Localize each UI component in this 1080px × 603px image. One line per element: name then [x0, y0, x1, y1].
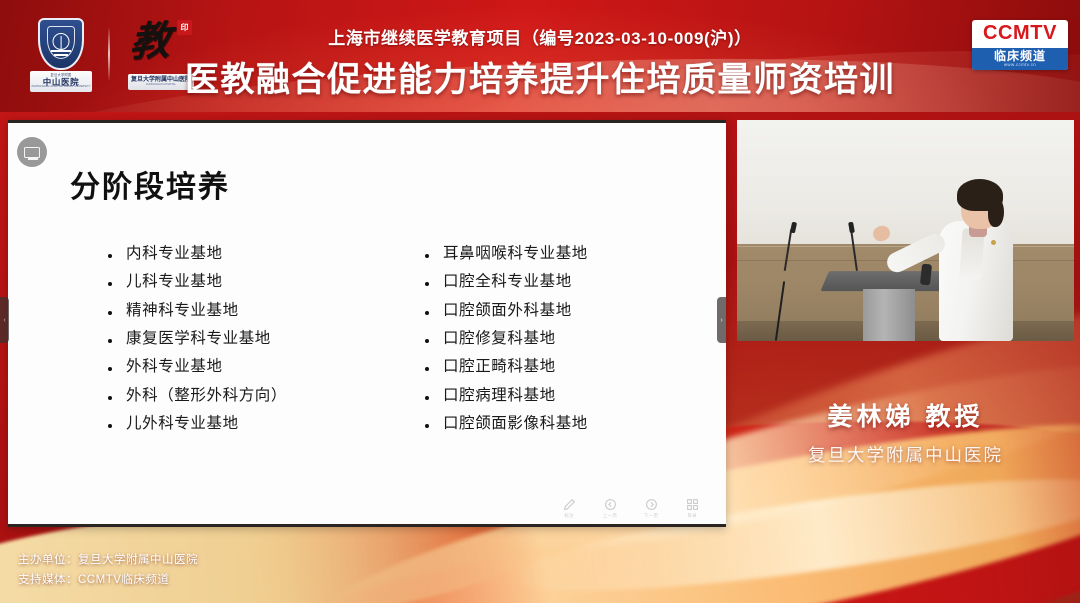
- bullet-dot-icon: [108, 311, 112, 315]
- event-subtitle: 上海市继续医学教育项目（编号2023-03-10-009(沪)）: [0, 24, 1080, 49]
- slide-bullets-left: 内科专业基地 儿科专业基地 精神科专业基地 康复医学科专业基地 外科专业基地: [108, 245, 408, 443]
- ccmtv-logo: CCMTV 临床频道 www.ccmtv.cn: [972, 20, 1068, 70]
- slide-letterbox-bottom: [8, 524, 726, 527]
- slide-prev-handle[interactable]: ‹: [0, 297, 9, 343]
- slide-content-columns: 内科专业基地 儿科专业基地 精神科专业基地 康复医学科专业基地 外科专业基地: [8, 245, 726, 443]
- ccmtv-url-text: www.ccmtv.cn: [1004, 63, 1036, 68]
- bullet-dot-icon: [108, 424, 112, 428]
- presentation-slide[interactable]: 分阶段培养 内科专业基地 儿科专业基地 精神科专业基地 康复医学科专业基地: [8, 120, 726, 527]
- stage-background: 分阶段培养 内科专业基地 儿科专业基地 精神科专业基地 康复医学科专业基地: [0, 112, 1080, 603]
- next-page-label: 下一页: [644, 513, 658, 519]
- speaker-hair-side: [988, 197, 1004, 227]
- list-item: 内科专业基地: [108, 245, 408, 263]
- podium-body: [863, 289, 915, 341]
- list-item-label: 口腔全科专业基地: [443, 273, 572, 291]
- list-item: 口腔病理科基地: [425, 387, 715, 405]
- footer-media: 支持媒体：CCMTV临床频道: [18, 571, 198, 591]
- list-item: 儿科专业基地: [108, 273, 408, 291]
- bullet-dot-icon: [425, 424, 429, 428]
- footer-organizer: 主办单位：复旦大学附属中山医院: [18, 551, 198, 571]
- prev-page-label: 上一页: [603, 513, 617, 519]
- list-item-label: 口腔颌面影像科基地: [443, 415, 588, 433]
- ccmtv-brand-text: CCMTV: [983, 22, 1057, 45]
- slide-letterbox-top: [8, 120, 726, 123]
- bullet-dot-icon: [425, 396, 429, 400]
- pen-icon: [563, 498, 576, 511]
- projection-screen: [737, 120, 1074, 244]
- list-item-label: 口腔修复科基地: [443, 330, 556, 348]
- chevron-right-icon: ›: [720, 317, 722, 324]
- speaker-name: 姜林娣 教授: [828, 397, 984, 433]
- slide-toolbar[interactable]: 标注 上一页 下一页 目录: [557, 498, 704, 519]
- annotate-button[interactable]: 标注: [557, 498, 581, 519]
- slide-index-label: 目录: [687, 513, 697, 519]
- list-item: 精神科专业基地: [108, 302, 408, 320]
- annotate-label: 标注: [564, 513, 574, 519]
- slide-next-handle[interactable]: ›: [717, 297, 726, 343]
- bullet-dot-icon: [108, 282, 112, 286]
- event-title: 医教融合促进能力培养提升住培质量师资培训: [0, 52, 1080, 101]
- slide-index-button[interactable]: 目录: [680, 498, 704, 519]
- list-item-label: 口腔病理科基地: [443, 387, 556, 405]
- slide-bullets-right: 耳鼻咽喉科专业基地 口腔全科专业基地 口腔颌面外科基地 口腔修复科基地 口腔正畸…: [425, 245, 715, 443]
- bullet-dot-icon: [108, 396, 112, 400]
- slide-title: 分阶段培养: [70, 162, 230, 206]
- list-item: 外科（整形外科方向）: [108, 387, 408, 405]
- list-item-label: 耳鼻咽喉科专业基地: [443, 245, 588, 263]
- list-item-label: 外科（整形外科方向）: [126, 387, 287, 405]
- list-item: 耳鼻咽喉科专业基地: [425, 245, 715, 263]
- prev-page-button[interactable]: 上一页: [598, 498, 622, 519]
- list-item-label: 外科专业基地: [126, 358, 223, 376]
- screen-mode-button[interactable]: [17, 137, 47, 167]
- list-item-label: 口腔正畸科基地: [443, 358, 556, 376]
- speaker-organization: 复旦大学附属中山医院: [808, 442, 1003, 467]
- ccmtv-channel-text: 临床频道: [994, 50, 1046, 63]
- footer-credits: 主办单位：复旦大学附属中山医院 支持媒体：CCMTV临床频道: [18, 551, 198, 591]
- bullet-dot-icon: [108, 254, 112, 258]
- prev-page-icon: [604, 498, 617, 511]
- speaker-badge-pin: [991, 240, 996, 245]
- list-item: 口腔修复科基地: [425, 330, 715, 348]
- bullet-dot-icon: [425, 339, 429, 343]
- ccmtv-channel-row: 临床频道 www.ccmtv.cn: [972, 48, 1068, 70]
- ccmtv-brand-row: CCMTV: [972, 20, 1068, 48]
- speaker-nameplate: 姜林娣 教授 复旦大学附属中山医院: [737, 337, 1074, 527]
- chevron-left-icon: ‹: [3, 317, 5, 324]
- list-item-label: 口腔颌面外科基地: [443, 302, 572, 320]
- list-item-label: 内科专业基地: [126, 245, 223, 263]
- list-item: 口腔正畸科基地: [425, 358, 715, 376]
- bullet-dot-icon: [108, 339, 112, 343]
- speaker-figure: [933, 176, 1019, 341]
- grid-icon: [686, 498, 699, 511]
- bullet-dot-icon: [108, 367, 112, 371]
- bullet-dot-icon: [425, 311, 429, 315]
- list-item: 口腔颌面外科基地: [425, 302, 715, 320]
- live-video-panel[interactable]: [737, 120, 1074, 341]
- event-header-banner: 复旦大学附属 中山医院 ZHONGSHAN HOSPITAL FUDAN UNI…: [0, 0, 1080, 112]
- list-item-label: 康复医学科专业基地: [126, 330, 271, 348]
- list-item: 口腔全科专业基地: [425, 273, 715, 291]
- list-item: 康复医学科专业基地: [108, 330, 408, 348]
- bullet-dot-icon: [425, 254, 429, 258]
- next-page-button[interactable]: 下一页: [639, 498, 663, 519]
- list-item-label: 儿外科专业基地: [126, 415, 239, 433]
- list-item: 外科专业基地: [108, 358, 408, 376]
- next-page-icon: [645, 498, 658, 511]
- list-item: 儿外科专业基地: [108, 415, 408, 433]
- list-item-label: 儿科专业基地: [126, 273, 223, 291]
- bullet-dot-icon: [425, 282, 429, 286]
- list-item-label: 精神科专业基地: [126, 302, 239, 320]
- list-item: 口腔颌面影像科基地: [425, 415, 715, 433]
- screen-icon: [24, 147, 40, 158]
- bullet-dot-icon: [425, 367, 429, 371]
